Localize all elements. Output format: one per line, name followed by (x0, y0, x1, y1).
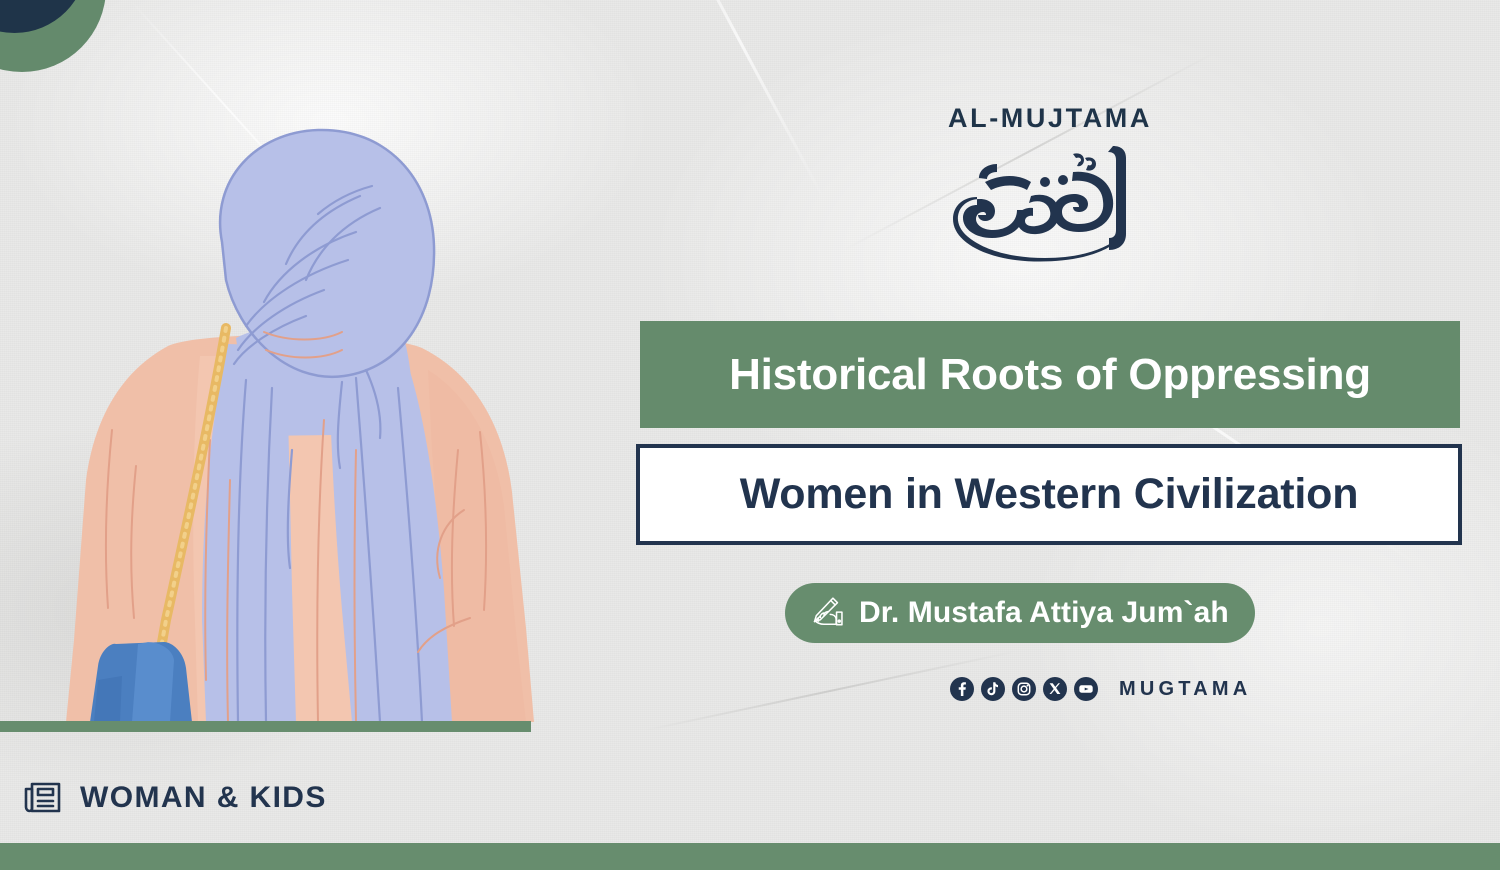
newspaper-icon (20, 778, 64, 818)
author-badge: Dr. Mustafa Attiya Jum`ah (785, 583, 1255, 643)
category-label: WOMAN & KIDS (80, 781, 327, 815)
hand-writing-pencil-icon (806, 595, 850, 631)
social-handle: MUGTAMA (1119, 678, 1251, 701)
headline-line-1: Historical Roots of Oppressing (729, 350, 1371, 400)
bottom-accent-band (0, 843, 1500, 870)
brand-logo: AL-MUJTAMA (935, 105, 1165, 268)
woman-from-behind-illustration (60, 120, 540, 732)
headline-bar-primary: Historical Roots of Oppressing (640, 321, 1460, 428)
brand-logo-latin: AL-MUJTAMA (935, 105, 1165, 132)
tiktok-icon[interactable] (981, 677, 1005, 701)
headline-line-2: Women in Western Civilization (740, 470, 1359, 519)
left-accent-rule (0, 721, 531, 732)
poster-canvas: AL-MUJTAMA (0, 0, 1500, 870)
author-name: Dr. Mustafa Attiya Jum`ah (859, 596, 1229, 630)
facebook-icon[interactable] (950, 677, 974, 701)
al-mujtama-arabic-calligraphy-icon (935, 138, 1165, 268)
category-badge: WOMAN & KIDS (20, 778, 327, 818)
social-row: MUGTAMA (950, 676, 1251, 702)
instagram-icon[interactable] (1012, 677, 1036, 701)
headline-bar-secondary: Women in Western Civilization (636, 444, 1462, 545)
x-twitter-icon[interactable] (1043, 677, 1067, 701)
youtube-icon[interactable] (1074, 677, 1098, 701)
